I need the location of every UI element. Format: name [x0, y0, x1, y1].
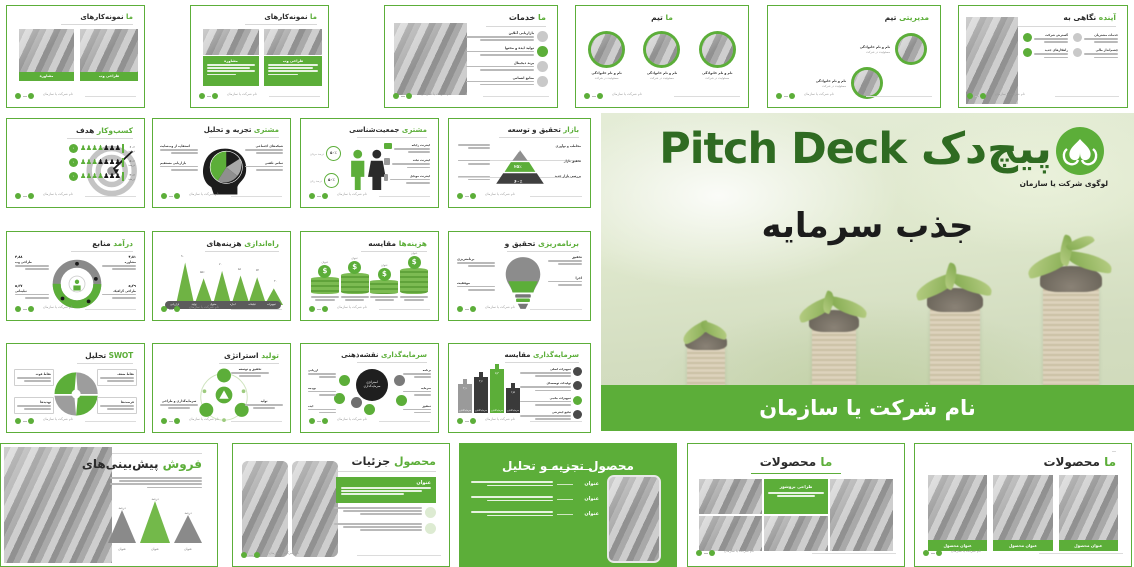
slide-title: آینده نگاهی به	[1063, 13, 1116, 22]
team-member: نام و نام خانوادگی مسئولیت در شرکت	[583, 31, 631, 80]
mindmap-label: ارزیابی	[308, 368, 336, 378]
slide-future[interactable]: آینده نگاهی به خدمات مشتریان گسترش شرکت …	[958, 5, 1128, 108]
slide-footer: نام شرکت یا سازمان	[457, 304, 582, 314]
segment-label: تماس تلفنی	[245, 161, 283, 171]
bullet-item	[334, 523, 436, 534]
slide-market-research[interactable]: بازار تحقیق و توسعه ۱۵٪ ۲۵٪ ۶۰٪ مخاطب و …	[448, 118, 591, 208]
service-item: بازاریابی آنلاین	[466, 31, 548, 42]
tower-bar: ۳٫۱ سرمایه‌گذاری	[458, 384, 472, 413]
card-caption: مشاوره	[19, 72, 74, 81]
slide-title: ما تیم	[579, 13, 745, 22]
card-body-panel: مشاوره	[203, 56, 259, 86]
headline-panel: عنوان	[336, 477, 436, 503]
analysis-item: عنوان	[471, 511, 599, 518]
goal-row: ۵۰٪درصد ♟♟♟♟♟♟♟ ٪	[69, 158, 135, 167]
slide-body-text	[110, 477, 202, 490]
card-caption: طراحی وب	[80, 72, 138, 81]
pyramid-value: ۱۵٪	[514, 149, 520, 153]
slide-title: بازار تحقیق و توسعه	[508, 126, 579, 134]
slide-title: راه‌اندازی هزینه‌های	[206, 239, 279, 248]
slide-investment-comparison[interactable]: سرمایه‌گذاری مقایسه تجهیزات اصلی تولیدات…	[448, 343, 591, 433]
slide-footer: نام شرکت یا سازمان	[696, 548, 896, 558]
slide-products-cards[interactable]: ما محصولات عنوان محصول عنوان محصول عنوان…	[914, 443, 1132, 567]
slide-title: فروش پیش‌بینی‌های	[82, 457, 202, 471]
mountain-value: ۵۸	[238, 267, 241, 271]
tower-bar: ۶٫۵ سرمایه‌گذاری	[506, 388, 520, 413]
product-image	[699, 479, 762, 514]
slide-footer: نام شرکت یا سازمان	[309, 191, 430, 201]
management-member: نام و نام خانوادگی مسئولیت در شرکت	[860, 33, 927, 65]
slide-footer: نام شرکت یا سازمان	[457, 191, 582, 201]
hero-slide[interactable]: پیچ‌دک Pitch Deck جذب سرمایه لوگوی شرکت …	[601, 113, 1134, 431]
device-item: اینترنت تبلت	[384, 158, 430, 169]
swot-box: نقاط ضعف	[97, 369, 137, 386]
mountain-value: ۹۰	[181, 254, 184, 258]
revenue-item: ۵٫۳۹ طراحی گرافیک	[102, 284, 136, 299]
slide-footer: نام شرکت یا سازمان	[309, 416, 430, 426]
stat-bubble: درصد مردان ۵۰٪	[310, 146, 341, 161]
slide-footer: نام شرکت یا سازمان	[161, 191, 282, 201]
mindmap-label: ایده	[308, 404, 336, 414]
slide-products-grid[interactable]: ما محصولات طراحی بروشور نام شرکت یا سازم…	[687, 443, 905, 567]
slide-customer-analysis[interactable]: مشتری تجزیه و تحلیل شبکه‌های اجتماعی تما…	[152, 118, 291, 208]
slide-business-goal[interactable]: کسب‌وکار هدف ۶۰٪درصد ♟♟♟♟♟♟♟ ٪	[6, 118, 145, 208]
mindmap-label: برنامه	[403, 368, 431, 378]
slide-title: تولید استراتژی	[224, 351, 279, 360]
card-body-panel: طراحی وب	[264, 56, 322, 86]
mindmap-label: سرمایه	[403, 386, 431, 396]
analysis-item: عنوان	[471, 481, 599, 488]
investment-item: تجهیزات اصلی	[520, 367, 582, 378]
coin-stack: عنوان $	[341, 256, 369, 301]
node-label: سرمایه‌گذاری و طراحی	[160, 399, 198, 409]
slide-cost-comparison[interactable]: هزینه‌ها مقایسه عنوان $ عنوان $	[300, 231, 439, 321]
slide-title: ما نمونه‌کارهای	[80, 13, 133, 21]
slide-swot[interactable]: SWOT تحلیل نقاط ضعف فرصت‌ها نقاط قوت ت	[6, 343, 145, 433]
slide-gallery: ما نمونه‌کارهای مشاوره طراحی وب نام شرکت…	[0, 0, 1134, 567]
forecast-peak: درصد عنوان	[174, 511, 202, 551]
slide-title: ما محصولات	[1043, 455, 1116, 469]
slide-research-planning[interactable]: برنامه‌ریزی تحقیق و تحقیق اجرا برنامه‌ری…	[448, 231, 591, 321]
analysis-item: عنوان	[471, 496, 599, 503]
slide-footer: نام شرکت یا سازمان	[161, 416, 282, 426]
device-item: اینترنت موبایل	[384, 174, 430, 185]
service-item: برند دیجیتال	[466, 61, 548, 72]
segment-label: بازاریابی مستقیم	[160, 161, 198, 171]
swot-box: نقاط قوت	[14, 369, 54, 386]
slide-footer: نام شرکت یا سازمان	[15, 191, 136, 201]
slide-footer: نام شرکت یا سازمان	[199, 91, 320, 101]
slide-title: SWOT تحلیل	[85, 351, 133, 360]
level-label: مخاطب و نوآوری	[547, 144, 581, 148]
plan-item: موفقیت	[457, 281, 495, 291]
mindmap-label: بودجه	[308, 386, 336, 396]
slide-demographics[interactable]: مشتری جمعیت‌شناسی درصد مردان ۵۰٪ درصد زن…	[300, 118, 439, 208]
plan-item: اجرا	[548, 276, 582, 286]
swot-box: فرصت‌ها	[97, 397, 137, 414]
goal-row: ۴۰٪درصد ♟♟♟♟♟♟♟ ٪	[69, 172, 135, 181]
coin-stack: عنوان $	[400, 251, 428, 301]
bullet-item	[334, 507, 436, 518]
slide-services[interactable]: ما خدمات بازاریابی آنلاین تولید ایده و م…	[384, 5, 558, 108]
service-item: منابع انسانی	[466, 76, 548, 87]
slide-management[interactable]: مدیریتی تیم نام و نام خانوادگی مسئولیت د…	[767, 5, 941, 108]
coin-stack: عنوان $	[370, 263, 398, 301]
slide-title: ما محصولات	[691, 455, 901, 469]
future-item: راهکارهای جدید	[1023, 48, 1068, 59]
pyramid-value: ۶۰٪	[514, 180, 522, 185]
node-label: تولید	[245, 399, 283, 409]
segment-label: استفاده از وب‌سایت	[160, 144, 198, 154]
mindmap-label: تحقیق	[403, 404, 431, 414]
mountain-value: ۷۰	[219, 262, 222, 266]
slide-footer: نام شرکت یا سازمان	[309, 304, 430, 314]
slide-revenue[interactable]: درآمد منابع ۴٫۸۱ مشاوره	[6, 231, 145, 321]
mindmap-node	[364, 404, 375, 415]
future-item: گسترش شرکت	[1023, 33, 1068, 44]
swot-box: تهدیدها	[14, 397, 54, 414]
mountain-value: ۵۵٪	[200, 270, 205, 274]
slide-footer: نام شرکت یا سازمان	[457, 416, 582, 426]
level-label: تحقیق بازار	[547, 159, 581, 163]
slide-product-analysis[interactable]: محصول تجزیه و تحلیل عنوان عنوان	[459, 443, 677, 567]
slide-title: مشتری تجزیه و تحلیل	[204, 126, 279, 134]
plan-item: تحقیق	[548, 255, 582, 265]
goal-row: ۶۰٪درصد ♟♟♟♟♟♟♟ ٪	[69, 144, 135, 153]
mountain-chart	[162, 257, 284, 305]
product-card: عنوان محصول	[928, 475, 987, 551]
slide-footer: نام شرکت یا سازمان	[967, 91, 1119, 101]
product-card: عنوان محصول	[993, 475, 1052, 551]
hero-subtitle: جذب سرمایه	[601, 206, 1134, 246]
slide-mindmap[interactable]: سرمایه‌گذاری نقشه‌ذهنی استراتژی سرمایه‌گ…	[300, 343, 439, 433]
tower-bar: ۴٫۶ سرمایه‌گذاری	[474, 377, 488, 413]
pyramid-value: ۲۵٪	[514, 164, 522, 169]
lightbulb-icon	[504, 255, 542, 311]
future-item: خدمات مشتریان	[1073, 33, 1118, 44]
plan-item: برنامه‌ریزی	[457, 257, 495, 267]
product-image	[764, 516, 827, 551]
coin-stack: عنوان $	[311, 260, 339, 301]
slide-footer: نام شرکت یا سازمان	[15, 304, 136, 314]
mindmap-center: استراتژی سرمایه‌گذاری	[356, 369, 388, 401]
team-member: نام و نام خانوادگی مسئولیت در شرکت	[693, 31, 741, 80]
slide-product-details[interactable]: محصول جزئیات عنوان	[232, 443, 450, 567]
hero-title: پیچ‌دک Pitch Deck	[601, 127, 1110, 172]
device-item: اینترنت رایانه	[384, 143, 430, 154]
slide-portfolio-2[interactable]: ما نمونه‌کارهای مشاوره طراحی وب نا	[190, 5, 329, 108]
slide-title: برنامه‌ریزی تحقیق و	[505, 239, 579, 248]
slide-footer: نام شرکت یا سازمان	[241, 550, 441, 560]
hero-logo: لوگوی شرکت یا سازمان	[1052, 127, 1108, 188]
slide-title: ما خدمات	[509, 13, 546, 22]
puzzle-diagram	[50, 368, 104, 420]
slide-title: مشتری جمعیت‌شناسی	[349, 126, 427, 134]
team-member: نام و نام خانوادگی مسئولیت در شرکت	[638, 31, 686, 80]
revenue-item: ۴٫۸۱ مشاوره	[102, 255, 136, 270]
card-caption: طراحی وب	[268, 59, 318, 63]
product-highlight: طراحی بروشور	[764, 479, 827, 514]
service-item: تولید ایده و محتوا	[466, 46, 548, 57]
investment-item: تجهیزات جانبی	[520, 396, 582, 407]
slide-footer: نام شرکت یا سازمان	[15, 416, 136, 426]
company-logo-icon	[1056, 127, 1104, 175]
mountain-value: ۵۲	[256, 268, 259, 272]
segment-label: شبکه‌های اجتماعی	[245, 144, 283, 154]
slide-title: ما نمونه‌کارهای	[264, 13, 317, 21]
slide-footer: نام شرکت یا سازمان	[161, 304, 282, 314]
slide-footer: نام شرکت یا سازمان	[584, 91, 740, 101]
slide-title: سرمایه‌گذاری مقایسه	[505, 351, 579, 359]
mindmap-node	[339, 375, 350, 386]
slide-title: مدیریتی تیم	[885, 13, 929, 22]
slide-title: کسب‌وکار هدف	[76, 126, 133, 135]
slide-footer: نام شرکت یا سازمان	[15, 91, 136, 101]
investment-item: تولیدات توسعه‌ای	[520, 381, 582, 392]
slide-footer: نام شرکت یا سازمان	[776, 91, 932, 101]
product-image	[699, 516, 762, 551]
mindmap-node	[351, 397, 362, 408]
slide-portfolio-1[interactable]: ما نمونه‌کارهای مشاوره طراحی وب نام شرکت…	[6, 5, 145, 108]
tower-bar: ۵٫۳ سرمایه‌گذاری	[490, 369, 504, 413]
level-label: بررسی بازار جدید	[547, 174, 581, 178]
product-card: عنوان محصول	[1059, 475, 1118, 551]
future-item: چشم‌انداز مالی	[1073, 48, 1118, 59]
slide-title: محصول جزئیات	[352, 455, 436, 468]
slide-title: سرمایه‌گذاری نقشه‌ذهنی	[341, 351, 427, 359]
node-label: تحقیق و توسعه	[231, 367, 269, 377]
mountain-value: ۳۰	[274, 279, 277, 283]
revenue-item: ۴٫۸۸ طراحی وب	[15, 255, 49, 270]
slide-footer: نام شرکت یا سازمان	[923, 548, 1123, 558]
product-image	[830, 479, 893, 551]
revenue-item: ۵٫۳۷ تبلیغاتی	[15, 284, 49, 299]
slide-team[interactable]: ما تیم نام و نام خانوادگی مسئولیت در شرک…	[575, 5, 749, 108]
hero-footer: نام شرکت یا سازمان	[601, 385, 1134, 431]
card-caption: مشاوره	[207, 59, 255, 63]
forecast-peak: درصد عنوان	[140, 497, 170, 551]
forecast-peak: درصد عنوان	[108, 506, 136, 551]
slide-production-strategy[interactable]: تولید استراتژی تحقیق و توسعه سرمایه‌گذار…	[152, 343, 291, 433]
stat-bubble: درصد زنان ۵۰٪	[310, 173, 341, 188]
slide-title: درآمد منابع	[92, 239, 133, 248]
hero-logo-label: لوگوی شرکت یا سازمان	[1052, 179, 1108, 188]
slide-startup-costs[interactable]: راه‌اندازی هزینه‌های ۹۰ ۵۵٪ ۷۰ ۵۸ ۵۲ ۳۰ …	[152, 231, 291, 321]
slide-footer: نام شرکت یا سازمان	[393, 91, 549, 101]
slide-sales-forecast[interactable]: فروش پیش‌بینی‌های درصد عنوان درصد عنوان	[0, 443, 218, 567]
slide-title: هزینه‌ها مقایسه	[368, 239, 427, 248]
